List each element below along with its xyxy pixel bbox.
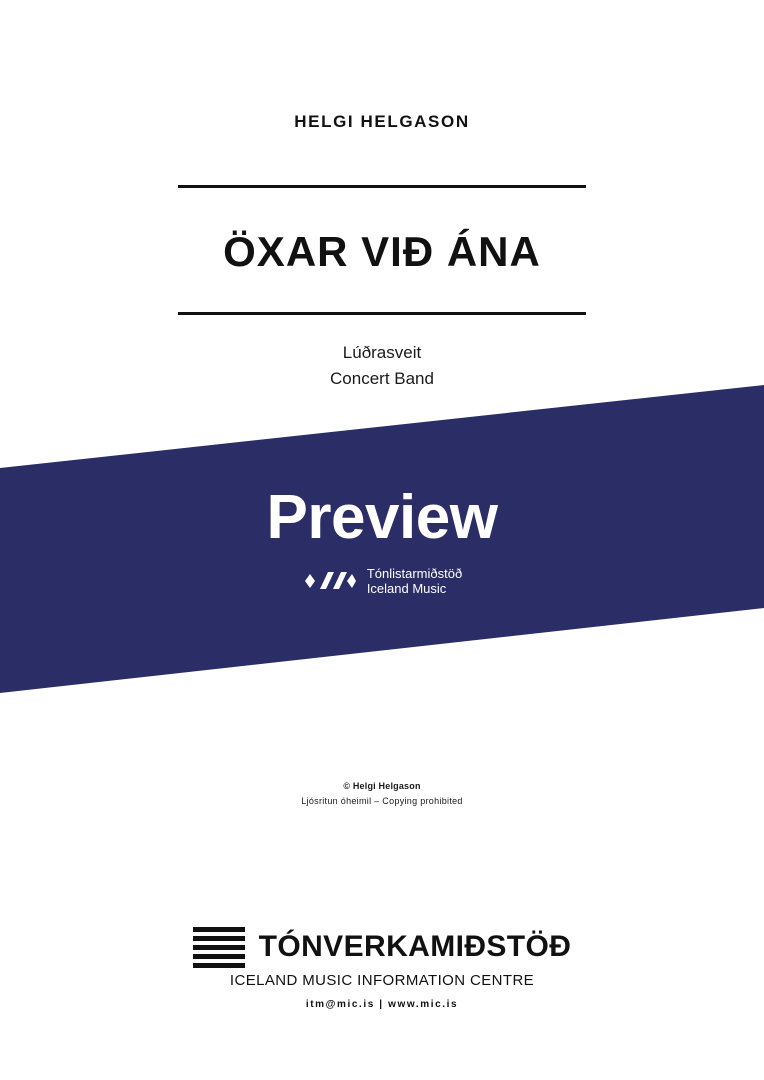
footer-logo-block: TÓNVERKAMIÐSTÖÐ ICELAND MUSIC INFORMATIO… bbox=[0, 925, 764, 1010]
composer-name: HELGI HELGASON bbox=[0, 112, 764, 132]
footer-contact: itm@mic.is | www.mic.is bbox=[0, 999, 764, 1010]
ensemble-subtitle-icelandic: Lúðrasveit bbox=[0, 340, 764, 366]
iceland-music-logo-text: Tónlistarmiðstöð Iceland Music bbox=[367, 566, 462, 596]
score-cover-page: HELGI HELGASON ÖXAR VIÐ ÁNA Lúðrasveit C… bbox=[0, 0, 764, 1080]
bars-logo-icon bbox=[193, 925, 245, 969]
footer-wordmark-row: TÓNVERKAMIÐSTÖÐ bbox=[0, 925, 764, 969]
copying-prohibited-line: Ljósritun óheimil – Copying prohibited bbox=[0, 794, 764, 809]
preview-label: Preview bbox=[0, 487, 764, 549]
copyright-line: © Helgi Helgason bbox=[0, 779, 764, 794]
slashes-logo-icon bbox=[302, 568, 356, 594]
footer-subtitle: ICELAND MUSIC INFORMATION CENTRE bbox=[0, 972, 764, 989]
page-title: ÖXAR VIÐ ÁNA bbox=[0, 228, 764, 276]
logo-line-icelandic: Tónlistarmiðstöð bbox=[367, 566, 462, 581]
copyright-block: © Helgi Helgason Ljósritun óheimil – Cop… bbox=[0, 779, 764, 809]
iceland-music-logo: Tónlistarmiðstöð Iceland Music bbox=[0, 566, 764, 596]
ensemble-subtitle-english: Concert Band bbox=[0, 366, 764, 392]
ensemble-subtitle: Lúðrasveit Concert Band bbox=[0, 340, 764, 392]
title-rule-bottom bbox=[178, 312, 586, 315]
logo-line-english: Iceland Music bbox=[367, 581, 462, 596]
title-rule-top bbox=[178, 185, 586, 188]
footer-wordmark: TÓNVERKAMIÐSTÖÐ bbox=[259, 930, 572, 964]
